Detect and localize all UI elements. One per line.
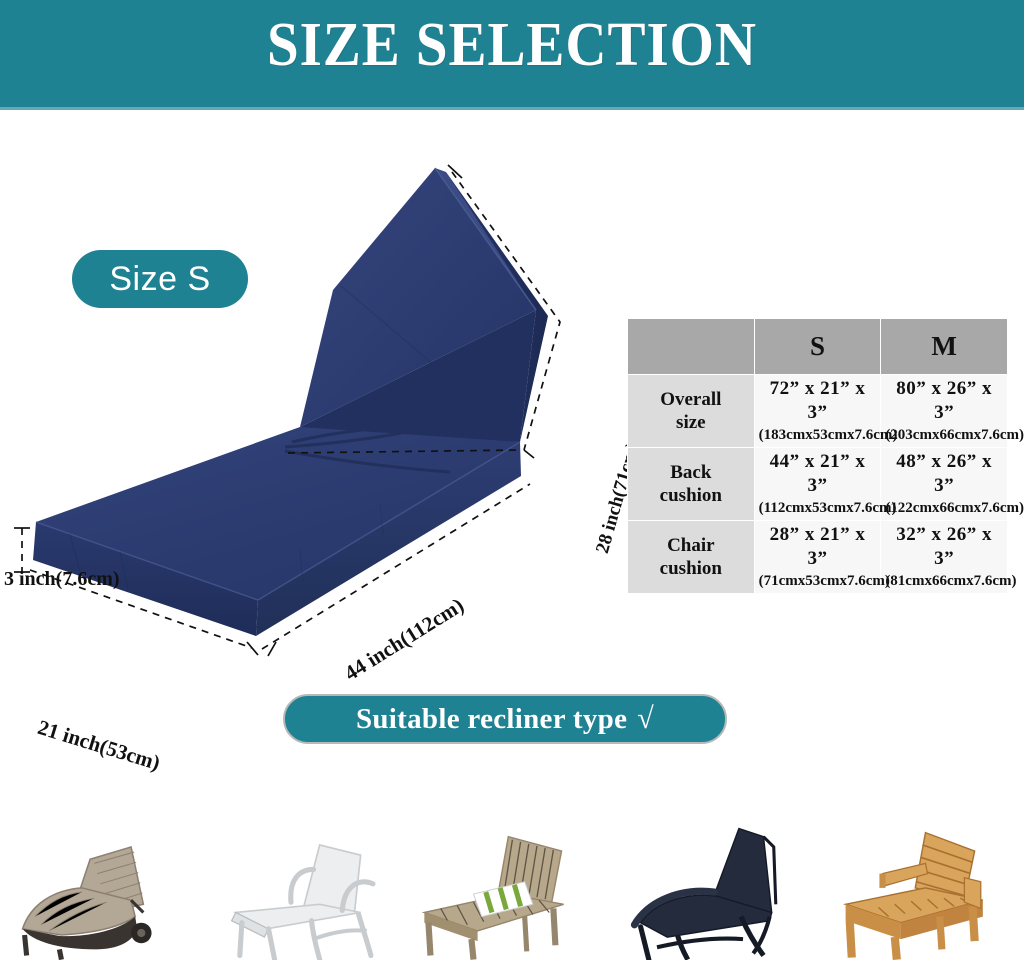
table-row: Chair cushion 28” x 21” x 3” (71cmx53cmx… <box>628 521 1008 594</box>
spec-row-label-overall-size: Overall size <box>628 375 755 448</box>
spec-cell-back-m: 48” x 26” x 3” (122cmx66cmx7.6cm) <box>881 448 1008 521</box>
spec-table-head: S M <box>628 319 1008 375</box>
dimension-thickness-label: 3 inch(7.6cm) <box>4 568 120 591</box>
spec-cell-back-s: 44” x 21” x 3” (112cmx53cmx7.6cm) <box>754 448 881 521</box>
cushion-illustration: 3 inch(7.6cm) 21 inch(53cm) 44 inch(112c… <box>0 120 640 680</box>
spec-cell-cm: (71cmx53cmx7.6cm) <box>759 571 877 591</box>
spec-cell-cm: (81cmx66cmx7.6cm) <box>885 571 1003 591</box>
size-spec-table: S M Overall size 72” x 21” x 3” (183cmx5… <box>627 318 1008 594</box>
recliner-teak-wood <box>819 790 1024 964</box>
suitable-recliner-label: Suitable recliner type <box>356 703 627 736</box>
table-row: Back cushion 44” x 21” x 3” (112cmx53cmx… <box>628 448 1008 521</box>
spec-cell-cm: (203cmx66cmx7.6cm) <box>885 425 1003 445</box>
spec-cell-inch: 72” x 21” x 3” <box>759 377 877 425</box>
suitable-recliner-banner: Suitable recliner type √ <box>283 694 727 744</box>
spec-table-body: Overall size 72” x 21” x 3” (183cmx53cmx… <box>628 375 1008 594</box>
spec-cell-cm: (112cmx53cmx7.6cm) <box>759 498 877 518</box>
spec-row-label-line2: size <box>628 411 754 434</box>
spec-cell-chair-m: 32” x 26” x 3” (81cmx66cmx7.6cm) <box>881 521 1008 594</box>
dimension-width-label: 21 inch(53cm) <box>35 715 163 776</box>
spec-row-label-back-cushion: Back cushion <box>628 448 755 521</box>
check-mark-icon: √ <box>637 702 654 736</box>
spec-table-corner-cell <box>628 319 755 375</box>
spec-cell-inch: 28” x 21” x 3” <box>759 523 877 571</box>
spec-column-header-s: S <box>754 319 881 375</box>
backrest-cushion <box>292 168 548 442</box>
teak-wood-recliner-icon <box>819 806 1024 960</box>
spec-row-label-chair-cushion: Chair cushion <box>628 521 755 594</box>
navy-mesh-recliner-icon <box>614 806 819 960</box>
spec-row-label-line1: Chair <box>628 534 754 557</box>
spec-row-label-line2: cushion <box>628 484 754 507</box>
wicker-rattan-recliner-icon <box>0 806 205 960</box>
spec-cell-cm: (122cmx66cmx7.6cm) <box>885 498 1003 518</box>
spec-cell-inch: 32” x 26” x 3” <box>885 523 1003 571</box>
spec-row-label-line1: Overall <box>628 388 754 411</box>
spec-column-header-m: M <box>881 319 1008 375</box>
recliner-photo-strip <box>0 790 1024 964</box>
spec-cell-cm: (183cmx53cmx7.6cm) <box>759 425 877 445</box>
recliner-navy-mesh <box>614 790 819 964</box>
recliner-white-mesh <box>205 790 410 964</box>
recliner-wood-slat-with-pillow <box>410 790 615 964</box>
spec-row-label-line2: cushion <box>628 557 754 580</box>
spec-row-label-line1: Back <box>628 461 754 484</box>
spec-table-header-row: S M <box>628 319 1008 375</box>
page-title: SIZE SELECTION <box>41 14 983 76</box>
spec-cell-chair-s: 28” x 21” x 3” (71cmx53cmx7.6cm) <box>754 521 881 594</box>
white-mesh-recliner-icon <box>205 806 410 960</box>
wood-slat-recliner-icon <box>410 806 615 960</box>
spec-cell-inch: 44” x 21” x 3” <box>759 450 877 498</box>
spec-cell-overall-m: 80” x 26” x 3” (203cmx66cmx7.6cm) <box>881 375 1008 448</box>
spec-cell-overall-s: 72” x 21” x 3” (183cmx53cmx7.6cm) <box>754 375 881 448</box>
recliner-wicker-rattan <box>0 790 205 964</box>
spec-cell-inch: 80” x 26” x 3” <box>885 377 1003 425</box>
header-banner: SIZE SELECTION <box>0 0 1024 110</box>
table-row: Overall size 72” x 21” x 3” (183cmx53cmx… <box>628 375 1008 448</box>
cushion-drawing <box>0 120 640 680</box>
spec-cell-inch: 48” x 26” x 3” <box>885 450 1003 498</box>
